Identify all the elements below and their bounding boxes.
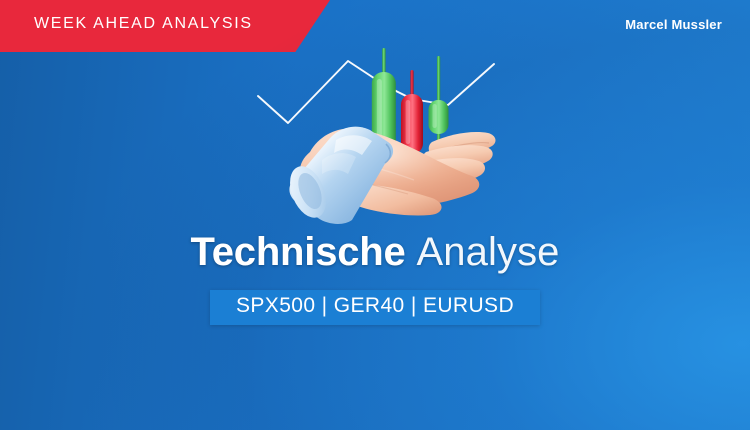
illustration-hand-holding-candlesticks <box>236 34 514 230</box>
footer-category-label: WEEK AHEAD ANALYSIS <box>34 15 253 33</box>
instruments-badge-container: SPX500 | GER40 | EURUSD <box>0 290 750 325</box>
footer-author-name: Marcel Mussler <box>625 17 722 32</box>
instruments-badge: SPX500 | GER40 | EURUSD <box>210 290 540 325</box>
page-title: Technische Analyse <box>0 232 750 272</box>
open-palm-hand-icon <box>283 127 495 224</box>
title-light-part: Analyse <box>417 230 560 274</box>
promo-banner: Technische Analyse SPX500 | GER40 | EURU… <box>0 0 750 430</box>
title-space <box>406 230 417 274</box>
title-bold-part: Technische <box>190 230 405 274</box>
